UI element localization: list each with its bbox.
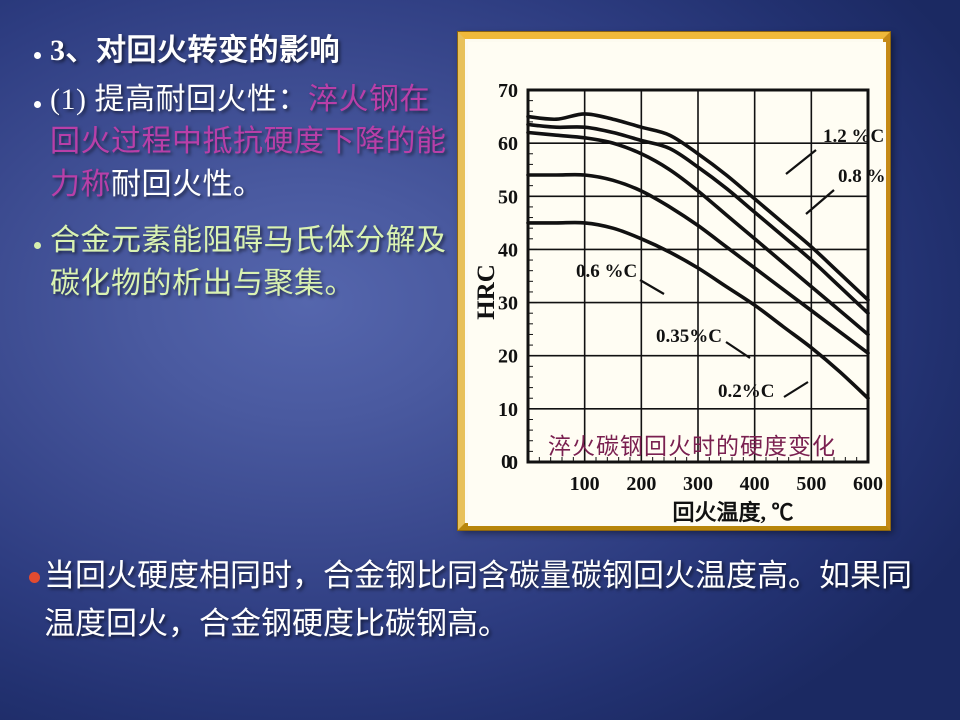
bullet-item-3: 合金元素能阻碍马氏体分解及碳化物的析出与聚集。 [24,220,454,305]
bullet-text-3: 合金元素能阻碍马氏体分解及碳化物的析出与聚集。 [50,220,454,305]
bullet-1-segment-1: 3、对回火转变的影响 [50,34,340,67]
chart-caption: 淬火碳钢回火时的硬度变化 [548,434,836,459]
figure-inner: 010203040506070 0100200300400500600 1.2 … [468,42,880,520]
dot-icon [34,52,41,59]
y-tick-label: 50 [498,186,518,208]
y-tick-label: 20 [498,346,518,368]
y-tick-label: 60 [498,133,518,155]
series-label: 0.8 %C [838,166,886,187]
bullet-list: 3、对回火转变的影响 (1) 提高耐回火性：淬火钢在回火过程中抵抗硬度下降的能力… [24,30,454,312]
y-tick-label: 40 [498,239,518,261]
bottom-paragraph-text: 当回火硬度相同时，合金钢比同含碳量碳钢回火温度高。如果同温度回火，合金钢硬度比碳… [44,552,934,648]
bullet-marker-red [24,552,44,588]
bullet-marker-white-2 [24,79,50,113]
bullet-text-2: (1) 提高耐回火性：淬火钢在回火过程中抵抗硬度下降的能力称耐回火性。 [50,79,454,207]
x-tick-label: 200 [626,473,656,495]
series-label: 0.6 %C [576,261,637,282]
x-tick-label: 100 [570,473,600,495]
series-label: 0.35%C [656,326,722,347]
x-tick-label: 600 [853,473,883,495]
bullet-2-segment-1: (1) 提高耐回火性： [50,83,308,116]
slide-canvas: 3、对回火转变的影响 (1) 提高耐回火性：淬火钢在回火过程中抵抗硬度下降的能力… [0,0,960,720]
y-tick-label: 70 [498,80,518,102]
figure-frame: 010203040506070 0100200300400500600 1.2 … [458,32,890,530]
bullet-marker-white [24,30,50,64]
x-tick-label: 0 [501,451,511,473]
bullet-text-1: 3、对回火转变的影响 [50,30,454,73]
bullet-3-segment-1: 合金元素能阻碍马氏体分解及碳化物的析出与聚集。 [50,224,447,300]
x-tick-label: 500 [796,473,826,495]
x-tick-label: 300 [683,473,713,495]
chart-y-axis-title: HRC [473,264,500,320]
y-tick-label: 30 [498,293,518,315]
hardness-tempering-chart: 010203040506070 0100200300400500600 1.2 … [468,42,886,526]
series-label: 1.2 %C [823,126,884,147]
x-tick-label: 400 [740,473,770,495]
bullet-item-1: 3、对回火转变的影响 [24,30,454,73]
bullet-item-2: (1) 提高耐回火性：淬火钢在回火过程中抵抗硬度下降的能力称耐回火性。 [24,79,454,207]
bullet-2-segment-3: 耐回火性。 [111,168,264,201]
y-tick-label: 10 [498,399,518,421]
bullet-marker-green [24,220,50,254]
dot-icon [29,572,40,583]
chart-x-axis-title: 回火温度, ℃ [672,500,793,525]
bottom-paragraph-block: 当回火硬度相同时，合金钢比同含碳量碳钢回火温度高。如果同温度回火，合金钢硬度比碳… [24,552,934,648]
dot-icon [34,101,41,108]
series-label: 0.2%C [718,381,774,402]
dot-icon [34,242,41,249]
